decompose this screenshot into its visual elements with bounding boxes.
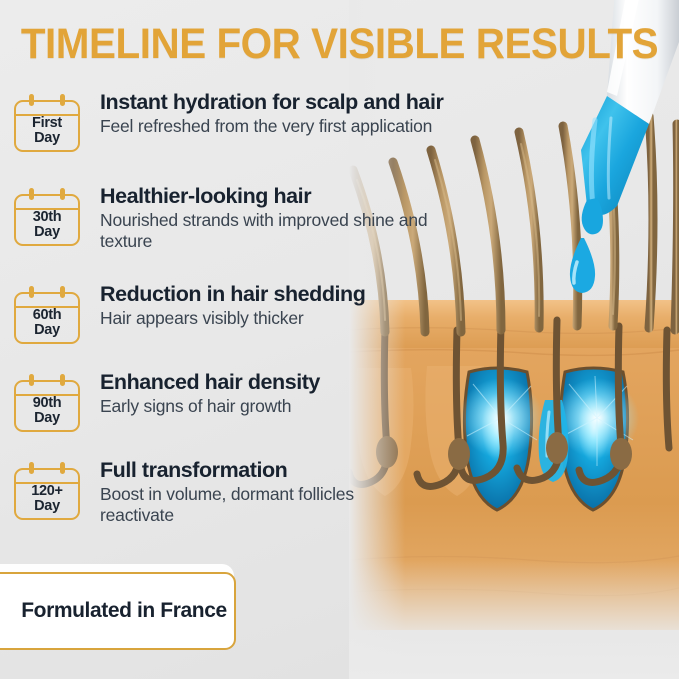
calendar-label-line1: 30th (14, 210, 80, 225)
calendar-icon: First Day (14, 92, 84, 154)
timeline-row: 60th Day Reduction in hair shedding Hair… (14, 280, 365, 346)
timeline-row: First Day Instant hydration for scalp an… (14, 88, 443, 154)
timeline-text: Instant hydration for scalp and hair Fee… (100, 88, 443, 137)
calendar-label: 60th Day (14, 308, 80, 337)
timeline-row: 90th Day Enhanced hair density Early sig… (14, 368, 320, 434)
timeline-subtitle: Hair appears visibly thicker (100, 308, 365, 329)
calendar-label: 90th Day (14, 396, 80, 425)
calendar-label-line1: 60th (14, 308, 80, 323)
timeline-text: Enhanced hair density Early signs of hai… (100, 368, 320, 417)
calendar-label-line2: Day (14, 499, 80, 514)
formulated-in-badge: Formulated in France (0, 572, 236, 650)
timeline-subtitle: Boost in volume, dormant follicles react… (100, 484, 370, 526)
calendar-icon: 120+ Day (14, 460, 84, 522)
timeline-heading: Instant hydration for scalp and hair (100, 90, 443, 115)
formulated-in-label: Formulated in France (0, 598, 227, 624)
timeline-text: Healthier-looking hair Nourished strands… (100, 182, 480, 252)
calendar-label-line1: 120+ (14, 484, 80, 499)
timeline-row: 30th Day Healthier-looking hair Nourishe… (14, 182, 480, 252)
timeline-text: Full transformation Boost in volume, dor… (100, 456, 370, 526)
calendar-icon: 60th Day (14, 284, 84, 346)
calendar-icon: 90th Day (14, 372, 84, 434)
timeline-heading: Full transformation (100, 458, 370, 483)
calendar-label: First Day (14, 116, 80, 145)
calendar-label-line1: 90th (14, 396, 80, 411)
serum-droplet (570, 238, 595, 293)
calendar-label-line2: Day (14, 323, 80, 338)
timeline-subtitle: Nourished strands with improved shine an… (100, 210, 480, 252)
timeline-subtitle: Early signs of hair growth (100, 396, 320, 417)
timeline-heading: Reduction in hair shedding (100, 282, 365, 307)
calendar-icon: 30th Day (14, 186, 84, 248)
timeline-heading: Healthier-looking hair (100, 184, 480, 209)
timeline-row: 120+ Day Full transformation Boost in vo… (14, 456, 370, 526)
calendar-label-line2: Day (14, 131, 80, 146)
calendar-label: 120+ Day (14, 484, 80, 513)
calendar-label-line2: Day (14, 225, 80, 240)
timeline-text: Reduction in hair shedding Hair appears … (100, 280, 365, 329)
calendar-label-line1: First (14, 116, 80, 131)
page-title: TIMELINE FOR VISIBLE RESULTS (20, 20, 658, 69)
timeline-heading: Enhanced hair density (100, 370, 320, 395)
infographic-page: TIMELINE FOR VISIBLE RESULTS First Day I… (0, 0, 679, 679)
calendar-label: 30th Day (14, 210, 80, 239)
calendar-label-line2: Day (14, 411, 80, 426)
timeline-subtitle: Feel refreshed from the very first appli… (100, 116, 443, 137)
